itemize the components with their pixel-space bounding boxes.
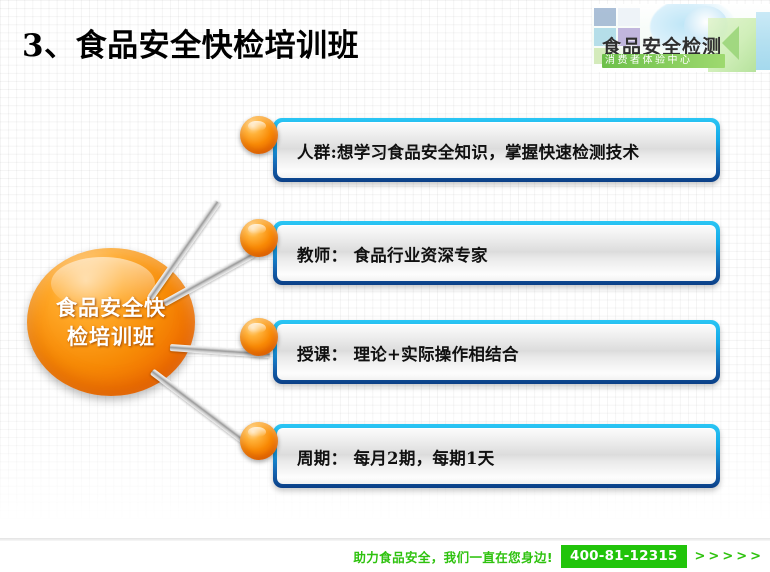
content-box-3[interactable]: 授课： 理论+实际操作相结合 <box>273 320 720 384</box>
content-box-2-text: 教师： 食品行业资深专家 <box>297 242 488 266</box>
brand-logo: 食品安全检测 消费者体验中心 <box>592 4 770 72</box>
content-box-4-inner: 周期： 每月2期，每期1天 <box>277 428 716 484</box>
content-box-3-inner: 授课： 理论+实际操作相结合 <box>277 324 716 380</box>
content-box-2[interactable]: 教师： 食品行业资深专家 <box>273 221 720 285</box>
logo-swatch-white <box>618 8 640 26</box>
content-box-3-text: 授课： 理论+实际操作相结合 <box>297 341 519 365</box>
footer-phone-badge[interactable]: 400-81-12315 <box>561 545 687 568</box>
connector-knob-4 <box>240 422 278 460</box>
content-box-2-inner: 教师： 食品行业资深专家 <box>277 225 716 281</box>
central-hub-label: 食品安全快检培训班 <box>46 293 176 351</box>
footer-bar: 助力食品安全，我们一直在您身边! 400-81-12315 >>>>> <box>0 541 770 572</box>
content-box-1-text: 人群:想学习食品安全知识，掌握快速检测技术 <box>297 139 639 163</box>
logo-sub-text: 消费者体验中心 <box>605 54 693 68</box>
footer-slogan: 助力食品安全，我们一直在您身边! <box>353 547 553 566</box>
connector-knob-2 <box>240 219 278 257</box>
logo-swatch-blue <box>594 8 616 26</box>
connector-knob-3 <box>240 318 278 356</box>
content-box-1-inner: 人群:想学习食品安全知识，掌握快速检测技术 <box>277 122 716 178</box>
slide-canvas: 3、食品安全快检培训班 食品安全检测 消费者体验中心 食品安全快检培训班 <box>0 0 770 572</box>
content-box-4-text: 周期： 每月2期，每期1天 <box>297 445 495 469</box>
logo-blue-bar <box>756 12 770 70</box>
connector-knob-1 <box>240 116 278 154</box>
footer-chevrons-icon: >>>>> <box>695 549 764 564</box>
page-title: 3、食品安全快检培训班 <box>22 20 359 65</box>
content-box-4[interactable]: 周期： 每月2期，每期1天 <box>273 424 720 488</box>
content-box-1[interactable]: 人群:想学习食品安全知识，掌握快速检测技术 <box>273 118 720 182</box>
